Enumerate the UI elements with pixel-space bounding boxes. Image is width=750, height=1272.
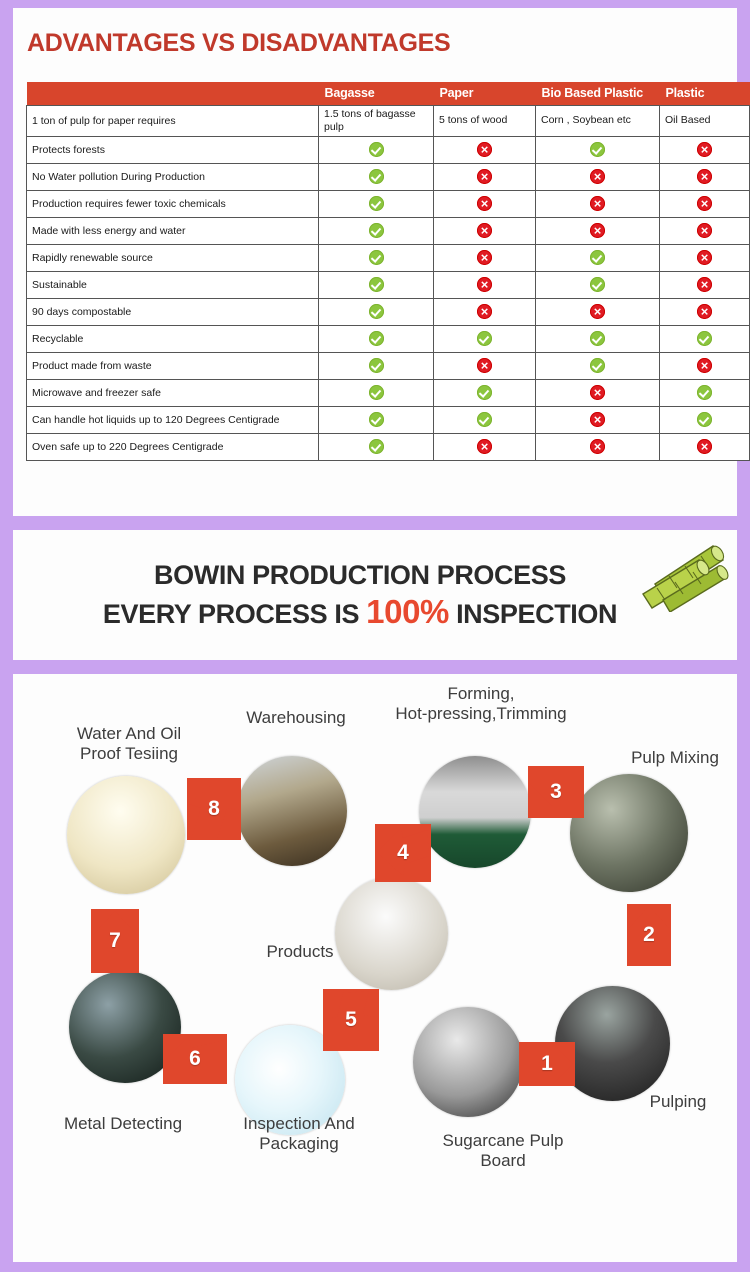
check-icon: [697, 412, 712, 427]
table-row: Recyclable: [27, 325, 750, 352]
check-icon: [369, 304, 384, 319]
cross-icon: [477, 250, 492, 265]
check-icon: [590, 358, 605, 373]
flow-arrow-6: 6: [163, 1034, 227, 1084]
cell-no: [434, 217, 536, 244]
row-label: Production requires fewer toxic chemical…: [27, 190, 319, 217]
cell-yes: [319, 136, 434, 163]
flow-label-metal-detecting: Metal Detecting: [33, 1114, 213, 1134]
cell-yes: [319, 433, 434, 460]
process-flow-panel: 1 2 3 4 5: [13, 674, 737, 1262]
flow-arrow-7-number: 7: [109, 929, 121, 953]
cell-no: [660, 244, 750, 271]
cell-no: [660, 271, 750, 298]
cross-icon: [697, 250, 712, 265]
table-row: Product made from waste: [27, 352, 750, 379]
cell-yes: [660, 379, 750, 406]
flow-arrow-1: 1: [519, 1042, 575, 1086]
cell-no: [536, 433, 660, 460]
flow-arrow-8-number: 8: [208, 797, 220, 821]
cell-yes: [319, 325, 434, 352]
flow-label-pulping: Pulping: [623, 1092, 733, 1112]
cell-yes: [536, 271, 660, 298]
node-photo-warehousing: [237, 756, 347, 866]
row-label: Oven safe up to 220 Degrees Centigrade: [27, 433, 319, 460]
page-root: ADVANTAGES VS DISADVANTAGES Bagasse Pape…: [0, 0, 750, 1272]
cell-no: [660, 190, 750, 217]
cell-no: [434, 433, 536, 460]
cell-yes: [319, 406, 434, 433]
cross-icon: [590, 412, 605, 427]
table-row: No Water pollution During Production: [27, 163, 750, 190]
flow-arrow-5-number: 5: [345, 1008, 357, 1032]
cell-no: [660, 217, 750, 244]
cross-icon: [477, 304, 492, 319]
table-row: Oven safe up to 220 Degrees Centigrade: [27, 433, 750, 460]
banner-text-block: BOWIN PRODUCTION PROCESS EVERY PROCESS I…: [13, 530, 737, 660]
cell-yes: [319, 163, 434, 190]
cell-no: [434, 163, 536, 190]
row-label: Sustainable: [27, 271, 319, 298]
cell-no: [434, 244, 536, 271]
cell-no: [434, 352, 536, 379]
cell-no: [536, 406, 660, 433]
cell-no: [536, 298, 660, 325]
table-row: Rapidly renewable source: [27, 244, 750, 271]
cross-icon: [590, 169, 605, 184]
cell-text: Corn , Soybean etc: [536, 105, 660, 136]
cell-yes: [319, 379, 434, 406]
check-icon: [369, 412, 384, 427]
cell-no: [536, 379, 660, 406]
check-icon: [369, 331, 384, 346]
cell-yes: [319, 271, 434, 298]
cross-icon: [590, 196, 605, 211]
check-icon: [369, 277, 384, 292]
cell-yes: [536, 325, 660, 352]
cell-yes: [319, 217, 434, 244]
cross-icon: [590, 304, 605, 319]
cell-no: [660, 163, 750, 190]
row-label: Recyclable: [27, 325, 319, 352]
cell-no: [536, 190, 660, 217]
check-icon: [369, 439, 384, 454]
check-icon: [590, 277, 605, 292]
cell-text: 5 tons of wood: [434, 105, 536, 136]
comparison-table: Bagasse Paper Bio Based Plastic Plastic …: [26, 82, 750, 461]
cross-icon: [697, 304, 712, 319]
cross-icon: [697, 358, 712, 373]
cell-yes: [660, 325, 750, 352]
flow-arrow-1-number: 1: [541, 1052, 553, 1076]
cell-yes: [434, 406, 536, 433]
column-header-blank: [27, 82, 319, 106]
check-icon: [369, 196, 384, 211]
check-icon: [697, 385, 712, 400]
row-label: Rapidly renewable source: [27, 244, 319, 271]
node-photo-sugarcane-pulp-board: [413, 1007, 523, 1117]
cell-no: [536, 163, 660, 190]
cross-icon: [477, 223, 492, 238]
row-label: Protects forests: [27, 136, 319, 163]
cross-icon: [477, 169, 492, 184]
flow-arrow-6-number: 6: [189, 1047, 201, 1071]
flow-label-inspection-packaging: Inspection And Packaging: [209, 1114, 389, 1153]
check-icon: [369, 142, 384, 157]
cross-icon: [477, 439, 492, 454]
banner-headline: BOWIN PRODUCTION PROCESS: [154, 560, 566, 591]
check-icon: [590, 142, 605, 157]
flow-arrow-4: 4: [375, 824, 431, 882]
row-label: No Water pollution During Production: [27, 163, 319, 190]
cross-icon: [477, 358, 492, 373]
cross-icon: [697, 169, 712, 184]
check-icon: [590, 331, 605, 346]
node-photo-water-oil-proof-testing: [67, 776, 185, 894]
flow-label-products: Products: [235, 942, 365, 962]
page-title: ADVANTAGES VS DISADVANTAGES: [13, 8, 737, 58]
table-row: Microwave and freezer safe: [27, 379, 750, 406]
cross-icon: [697, 142, 712, 157]
flow-arrow-3-number: 3: [550, 780, 562, 804]
node-photo-forming-hotpressing-trimming: [419, 756, 531, 868]
check-icon: [369, 169, 384, 184]
cross-icon: [697, 277, 712, 292]
cell-no: [660, 352, 750, 379]
flow-label-water-oil-proof-testing: Water And Oil Proof Tesiing: [39, 724, 219, 763]
column-header-paper: Paper: [434, 82, 536, 106]
cell-no: [536, 217, 660, 244]
cross-icon: [590, 385, 605, 400]
check-icon: [369, 250, 384, 265]
cross-icon: [697, 439, 712, 454]
cross-icon: [477, 277, 492, 292]
table-row: Sustainable: [27, 271, 750, 298]
table-header: Bagasse Paper Bio Based Plastic Plastic: [27, 82, 750, 106]
table-body: 1 ton of pulp for paper requires1.5 tons…: [27, 105, 750, 460]
column-header-bio-based-plastic: Bio Based Plastic: [536, 82, 660, 106]
cross-icon: [697, 196, 712, 211]
table-row: 1 ton of pulp for paper requires1.5 tons…: [27, 105, 750, 136]
banner-subheadline: EVERY PROCESS IS 100% INSPECTION: [103, 593, 617, 631]
row-label: Product made from waste: [27, 352, 319, 379]
column-header-plastic: Plastic: [660, 82, 750, 106]
cell-yes: [319, 190, 434, 217]
check-icon: [477, 412, 492, 427]
flow-label-sugarcane-pulp-board: Sugarcane Pulp Board: [413, 1131, 593, 1170]
node-photo-pulp-mixing: [570, 774, 688, 892]
comparison-panel: ADVANTAGES VS DISADVANTAGES Bagasse Pape…: [13, 8, 737, 516]
cell-yes: [434, 325, 536, 352]
flow-label-pulp-mixing: Pulp Mixing: [605, 748, 737, 768]
cell-yes: [536, 244, 660, 271]
cross-icon: [697, 223, 712, 238]
cell-text: Oil Based: [660, 105, 750, 136]
cell-yes: [319, 244, 434, 271]
cell-no: [434, 271, 536, 298]
cell-no: [660, 136, 750, 163]
banner-highlight-100: 100%: [366, 593, 449, 630]
cross-icon: [590, 439, 605, 454]
check-icon: [369, 385, 384, 400]
cell-no: [434, 136, 536, 163]
cross-icon: [590, 223, 605, 238]
table-row: Protects forests: [27, 136, 750, 163]
check-icon: [697, 331, 712, 346]
flow-arrow-8: 8: [187, 778, 241, 840]
flow-label-forming: Forming, Hot-pressing,Trimming: [371, 684, 591, 723]
check-icon: [477, 385, 492, 400]
row-label: Microwave and freezer safe: [27, 379, 319, 406]
flow-arrow-2: 2: [627, 904, 671, 966]
check-icon: [369, 358, 384, 373]
cross-icon: [477, 142, 492, 157]
production-process-banner: BOWIN PRODUCTION PROCESS EVERY PROCESS I…: [13, 530, 737, 660]
banner-sub-post: INSPECTION: [449, 599, 617, 629]
cell-yes: [660, 406, 750, 433]
flow-label-warehousing: Warehousing: [211, 708, 381, 728]
row-label: 90 days compostable: [27, 298, 319, 325]
sugarcane-bundle-icon: [633, 538, 729, 612]
banner-sub-pre: EVERY PROCESS IS: [103, 599, 366, 629]
node-photo-products: [335, 877, 448, 990]
cell-yes: [536, 352, 660, 379]
flow-arrow-4-number: 4: [397, 841, 409, 865]
cell-no: [660, 433, 750, 460]
table-row: Can handle hot liquids up to 120 Degrees…: [27, 406, 750, 433]
flow-arrow-3: 3: [528, 766, 584, 818]
flow-arrow-2-number: 2: [643, 923, 655, 947]
row-label: 1 ton of pulp for paper requires: [27, 105, 319, 136]
cell-yes: [319, 298, 434, 325]
table-header-row: Bagasse Paper Bio Based Plastic Plastic: [27, 82, 750, 106]
cell-no: [660, 298, 750, 325]
row-label: Made with less energy and water: [27, 217, 319, 244]
cell-yes: [319, 352, 434, 379]
check-icon: [369, 223, 384, 238]
cell-no: [434, 298, 536, 325]
flow-arrow-5: 5: [323, 989, 379, 1051]
cross-icon: [477, 196, 492, 211]
cell-yes: [434, 379, 536, 406]
cell-no: [434, 190, 536, 217]
table-row: Made with less energy and water: [27, 217, 750, 244]
check-icon: [477, 331, 492, 346]
table-row: 90 days compostable: [27, 298, 750, 325]
table-row: Production requires fewer toxic chemical…: [27, 190, 750, 217]
check-icon: [590, 250, 605, 265]
column-header-bagasse: Bagasse: [319, 82, 434, 106]
cell-yes: [536, 136, 660, 163]
flow-arrow-7: 7: [91, 909, 139, 973]
cell-text: 1.5 tons of bagasse pulp: [319, 105, 434, 136]
row-label: Can handle hot liquids up to 120 Degrees…: [27, 406, 319, 433]
